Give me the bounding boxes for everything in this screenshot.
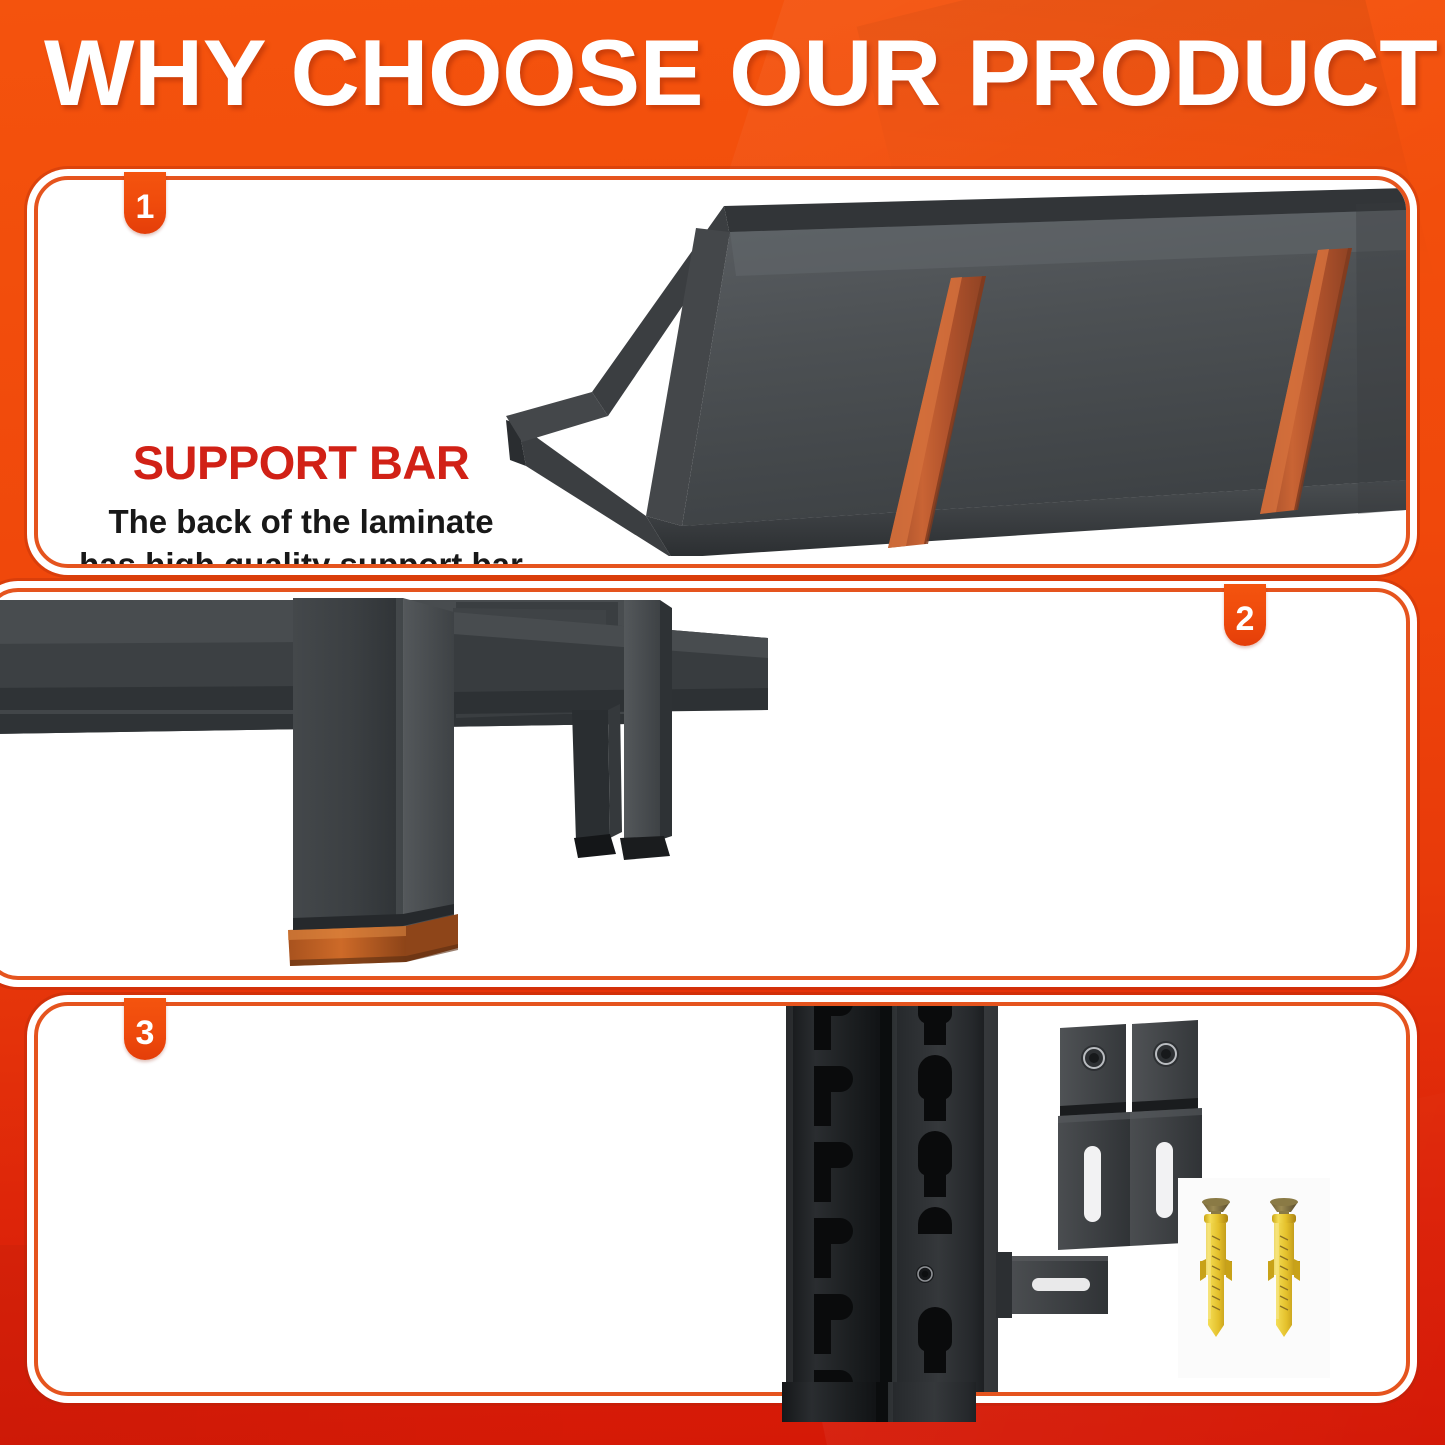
badge-number-3: 3 (124, 998, 166, 1060)
infographic-page: WHY CHOOSE OUR PRODUCT (0, 0, 1445, 1445)
support-bar-text-block: SUPPORT BAR The back of the laminate has… (76, 438, 526, 568)
attached-clip (996, 1252, 1108, 1318)
badge-number-1: 1 (124, 172, 166, 234)
wall-anchors-svg (1178, 1178, 1330, 1378)
feature-panel-support-bar: SUPPORT BAR The back of the laminate has… (34, 176, 1410, 568)
badge-number-2: 2 (1224, 584, 1266, 646)
wall-anchor-1 (1200, 1198, 1232, 1337)
post-overflow-below-panel (766, 1002, 976, 1422)
page-title: WHY CHOOSE OUR PRODUCT (44, 26, 1445, 120)
shelf-legs-image (0, 592, 778, 972)
feature-panel-foot-pads: FOOT PADS The Foot pads not only pro-tec… (0, 588, 1410, 980)
support-bar-heading: SUPPORT BAR (76, 438, 526, 487)
anti-tip-clip-left (1058, 1024, 1130, 1250)
post-overflow-svg (766, 1002, 976, 1422)
support-bar-body: The back of the laminate has high qualit… (76, 501, 526, 568)
wall-anchor-2 (1268, 1198, 1300, 1337)
shelf-board-svg (496, 180, 1406, 556)
wall-anchors-image (1178, 1178, 1330, 1378)
shelf-board-image (496, 180, 1406, 556)
shelf-legs-svg (0, 592, 778, 972)
